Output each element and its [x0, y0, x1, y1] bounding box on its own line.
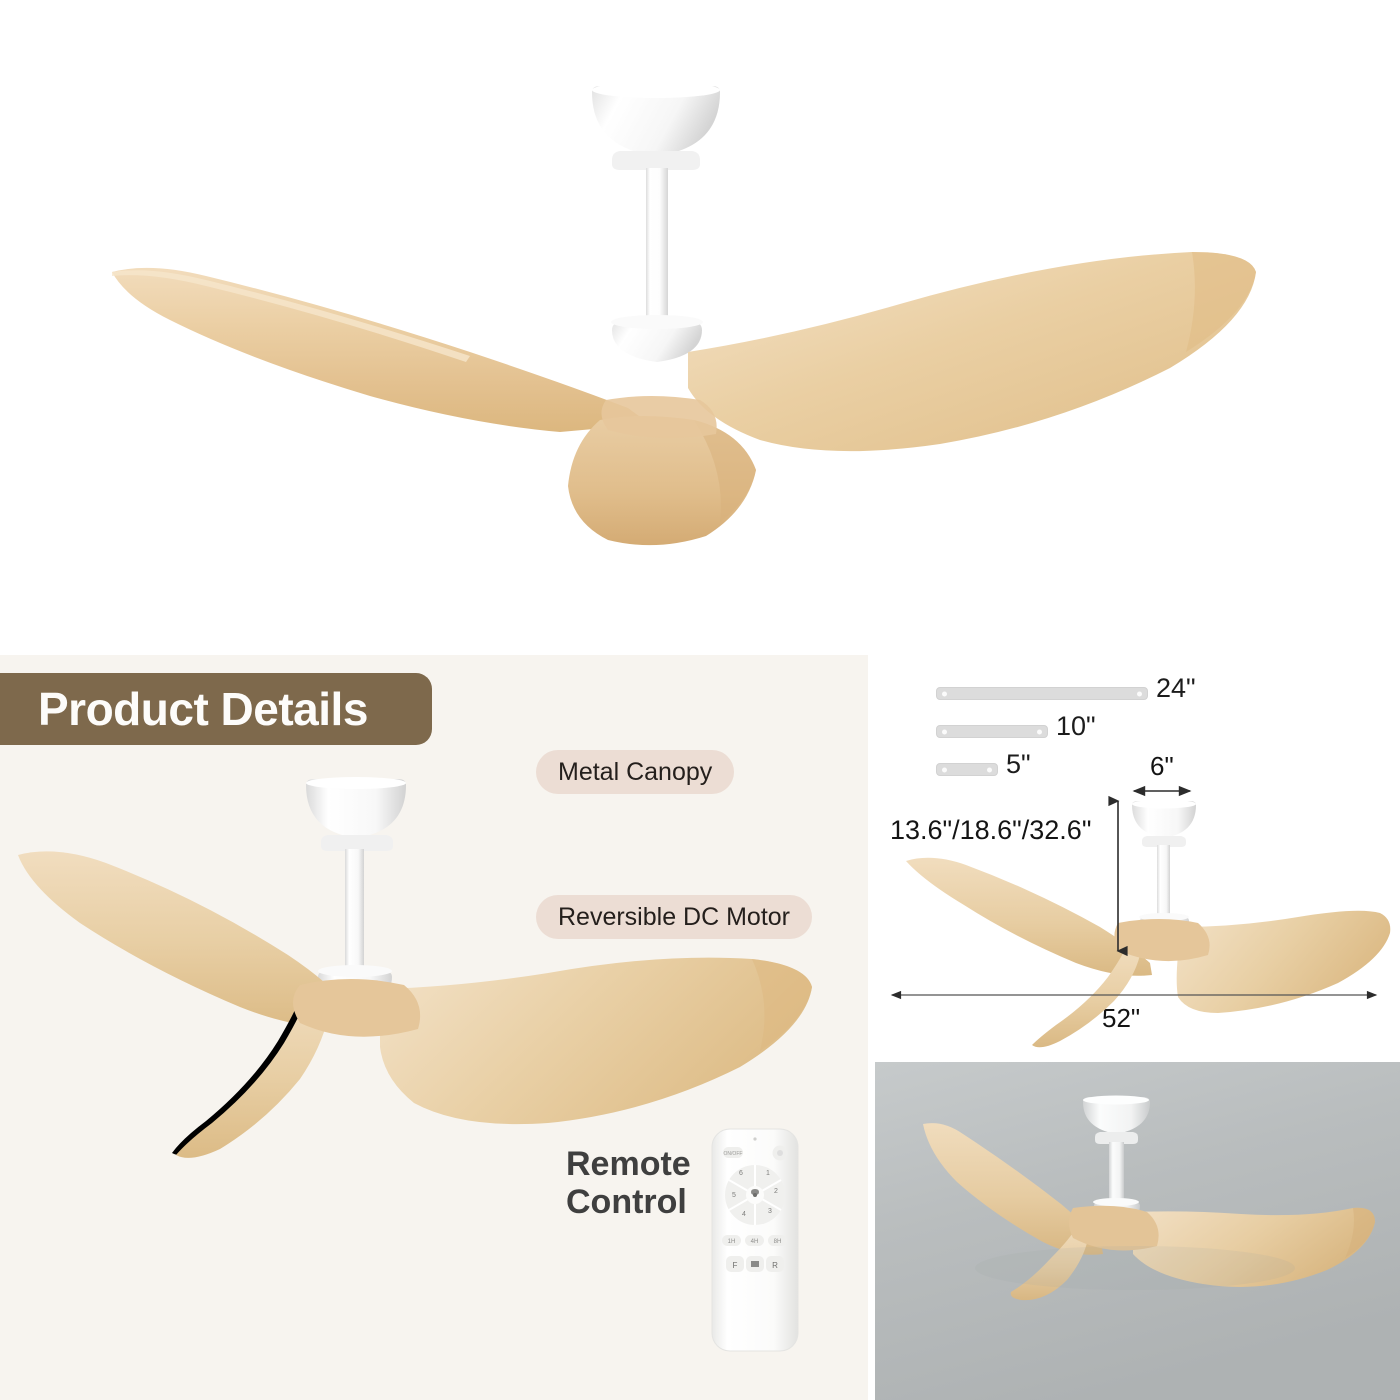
dimensions-panel: 24" 10" 5" 6" 13.6"/18.6"/32.6" 52"	[868, 655, 1400, 1060]
remote-speed-2: 2	[774, 1188, 778, 1195]
callout-label-metal-canopy: Metal Canopy	[536, 750, 734, 794]
svg-text:8H: 8H	[774, 1239, 782, 1245]
remote-control-title: Remote Control	[566, 1145, 666, 1221]
remote-mode-buttons: F R	[726, 1256, 784, 1272]
hero-fan-image	[0, 0, 1400, 648]
product-details-banner: Product Details	[0, 673, 432, 745]
dim-blade-left	[906, 858, 1152, 976]
remote-control-image: ON/OFF 1 2 3 4 5 6	[700, 1125, 810, 1355]
remote-led-icon	[753, 1137, 756, 1140]
dim-blade-right	[1177, 911, 1391, 1013]
hero-blade-right	[688, 252, 1256, 451]
svg-text:1H: 1H	[728, 1239, 736, 1245]
dim-downrod	[1157, 845, 1170, 919]
infographic-page: Product Details	[0, 0, 1400, 1400]
remote-speed-1: 1	[766, 1170, 770, 1177]
dim-canopy	[1132, 800, 1196, 848]
detail-canopy-shape	[306, 777, 406, 851]
page-title: Product Details	[0, 682, 368, 736]
hero-fan-svg	[0, 0, 1400, 648]
callout-label-reversible-dc-motor: Reversible DC Motor	[536, 895, 812, 939]
hero-blade-left	[112, 268, 650, 432]
remote-speed-5: 5	[732, 1192, 736, 1199]
dimension-fan-drawing	[868, 655, 1400, 1060]
remote-timer-buttons: 1H 4H 8H	[722, 1235, 787, 1246]
hero-canopy	[592, 82, 720, 170]
remote-speed-3: 3	[768, 1208, 772, 1215]
product-details-panel: Product Details	[0, 655, 868, 1400]
detail-downrod	[345, 849, 364, 975]
svg-text:ON/OFF: ON/OFF	[724, 1151, 743, 1157]
hero-downrod	[646, 168, 668, 326]
installed-fan-photo-svg	[875, 1062, 1400, 1400]
detail-blade-right	[380, 958, 812, 1125]
svg-text:R: R	[772, 1261, 778, 1270]
installed-fan-photo	[875, 1062, 1400, 1400]
svg-text:F: F	[733, 1261, 738, 1270]
detail-motor-housing	[318, 965, 392, 1004]
svg-text:4H: 4H	[751, 1239, 759, 1245]
photo-downrod	[1109, 1142, 1124, 1204]
remote-speed-4: 4	[742, 1211, 746, 1218]
remote-speed-6: 6	[739, 1170, 743, 1177]
detail-blade-left	[18, 851, 350, 1027]
